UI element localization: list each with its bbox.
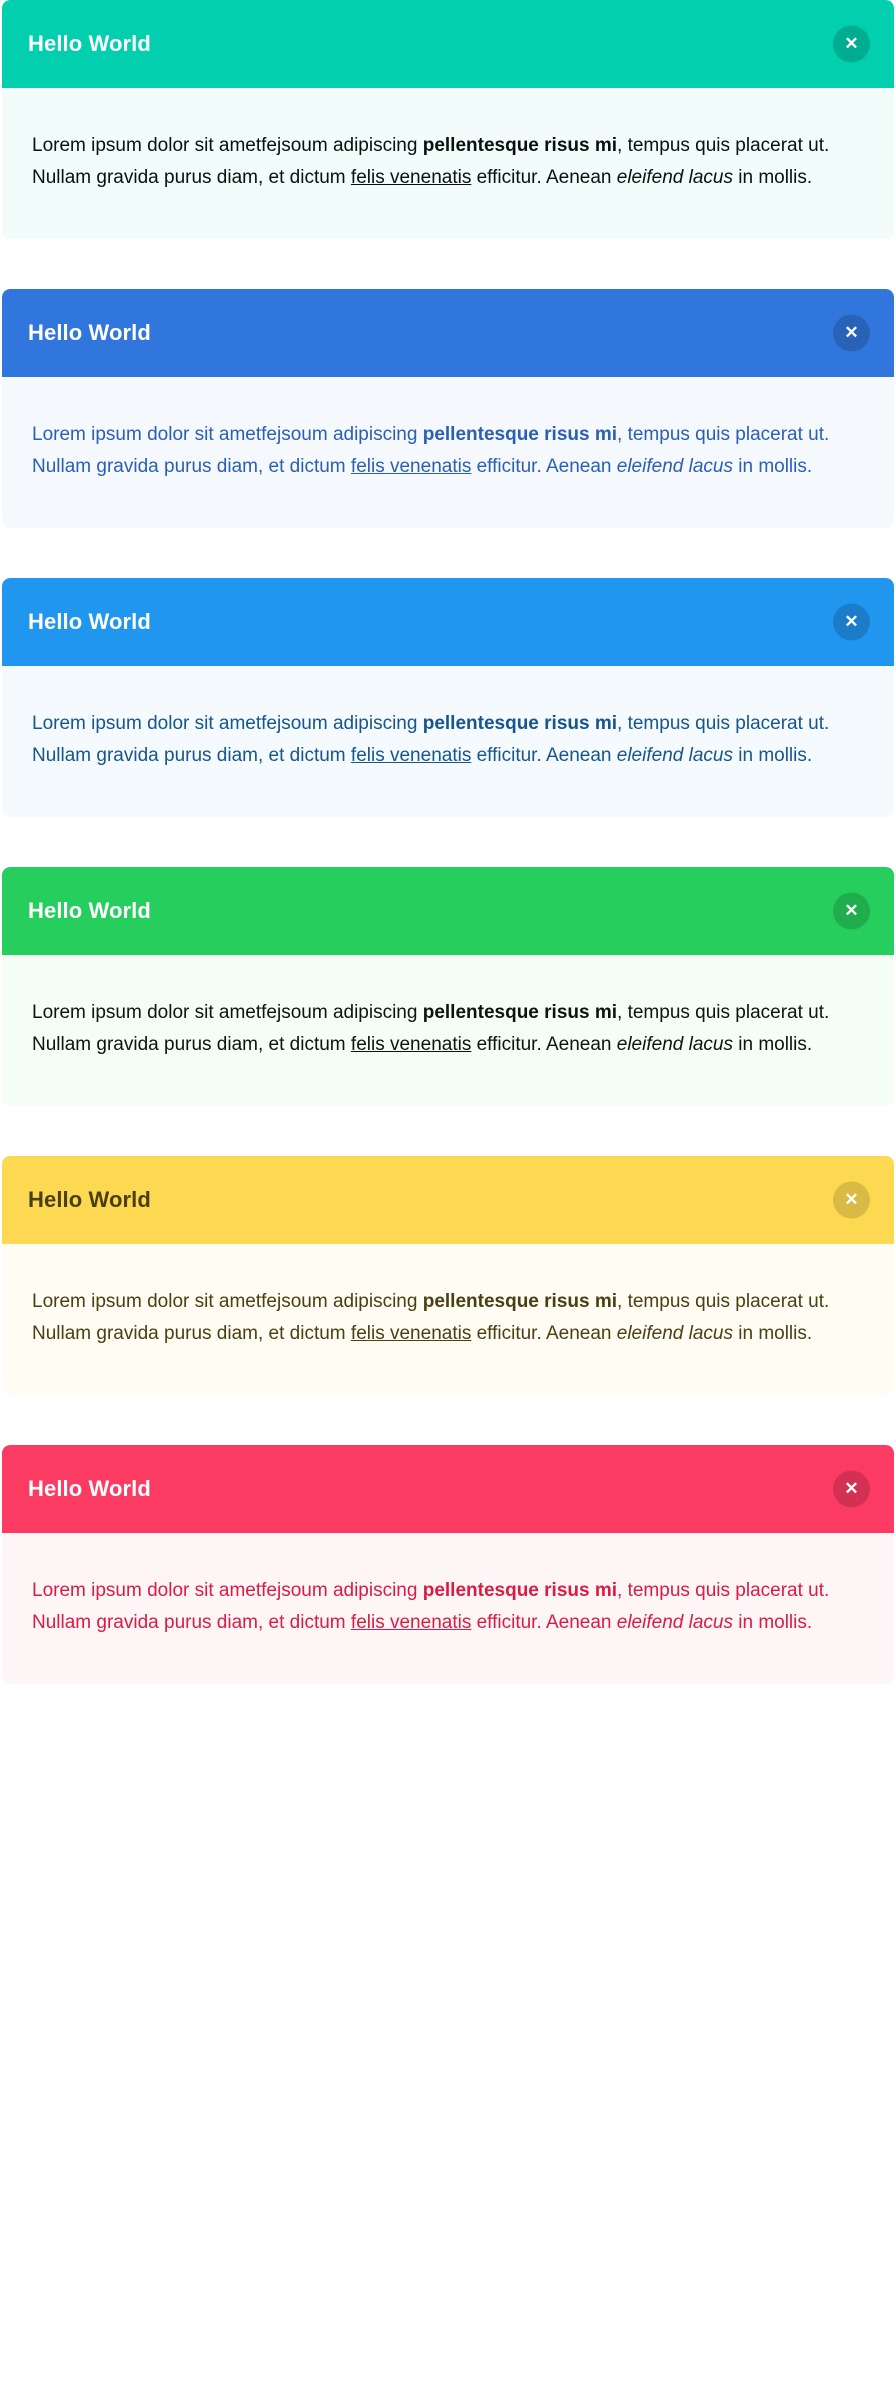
message-text-3: efficitur. Aenean	[471, 745, 616, 766]
message-text-1: Lorem ipsum dolor sit ametfejsoum adipis…	[32, 713, 423, 734]
message-text-1: Lorem ipsum dolor sit ametfejsoum adipis…	[32, 1002, 423, 1023]
alert-red: Hello World✕Lorem ipsum dolor sit ametfe…	[2, 1445, 894, 1684]
message-text-4: in mollis.	[733, 167, 812, 188]
message-link[interactable]: felis venenatis	[351, 167, 471, 188]
close-icon: ✕	[844, 324, 858, 341]
alert-blue: Hello World✕Lorem ipsum dolor sit ametfe…	[2, 289, 894, 528]
alert-message: Lorem ipsum dolor sit ametfejsoum adipis…	[32, 1575, 864, 1638]
message-bold-phrase: pellentesque risus mi	[423, 1291, 617, 1312]
message-text-3: efficitur. Aenean	[471, 456, 616, 477]
message-text-3: efficitur. Aenean	[471, 167, 616, 188]
message-link[interactable]: felis venenatis	[351, 456, 471, 477]
alert-lightblue: Hello World✕Lorem ipsum dolor sit ametfe…	[2, 578, 894, 817]
message-text-1: Lorem ipsum dolor sit ametfejsoum adipis…	[32, 1291, 423, 1312]
message-link[interactable]: felis venenatis	[351, 1612, 471, 1633]
message-italic-phrase: eleifend lacus	[617, 745, 733, 766]
alert-close-button[interactable]: ✕	[833, 1471, 870, 1508]
close-icon: ✕	[844, 902, 858, 919]
message-text-4: in mollis.	[733, 1323, 812, 1344]
close-icon: ✕	[844, 35, 858, 52]
message-text-4: in mollis.	[733, 745, 812, 766]
alert-header: Hello World✕	[2, 1156, 894, 1244]
message-bold-phrase: pellentesque risus mi	[423, 424, 617, 445]
alert-stack: Hello World✕Lorem ipsum dolor sit ametfe…	[0, 0, 896, 1684]
close-icon: ✕	[844, 1191, 858, 1208]
alert-header: Hello World✕	[2, 867, 894, 955]
alert-header: Hello World✕	[2, 1445, 894, 1533]
alert-header: Hello World✕	[2, 578, 894, 666]
message-text-4: in mollis.	[733, 1034, 812, 1055]
message-italic-phrase: eleifend lacus	[617, 1612, 733, 1633]
alert-header: Hello World✕	[2, 0, 894, 88]
message-italic-phrase: eleifend lacus	[617, 1323, 733, 1344]
message-italic-phrase: eleifend lacus	[617, 456, 733, 477]
alert-title: Hello World	[28, 1189, 868, 1211]
message-text-4: in mollis.	[733, 1612, 812, 1633]
message-link[interactable]: felis venenatis	[351, 1323, 471, 1344]
message-italic-phrase: eleifend lacus	[617, 1034, 733, 1055]
alert-body: Lorem ipsum dolor sit ametfejsoum adipis…	[2, 1244, 894, 1395]
message-bold-phrase: pellentesque risus mi	[423, 713, 617, 734]
message-text-3: efficitur. Aenean	[471, 1323, 616, 1344]
alert-teal: Hello World✕Lorem ipsum dolor sit ametfe…	[2, 0, 894, 239]
message-text-1: Lorem ipsum dolor sit ametfejsoum adipis…	[32, 1580, 423, 1601]
alert-message: Lorem ipsum dolor sit ametfejsoum adipis…	[32, 708, 864, 771]
alert-close-button[interactable]: ✕	[833, 26, 870, 63]
alert-close-button[interactable]: ✕	[833, 604, 870, 641]
alert-title: Hello World	[28, 322, 868, 344]
alert-close-button[interactable]: ✕	[833, 893, 870, 930]
alert-title: Hello World	[28, 900, 868, 922]
message-bold-phrase: pellentesque risus mi	[423, 1002, 617, 1023]
alert-green: Hello World✕Lorem ipsum dolor sit ametfe…	[2, 867, 894, 1106]
alert-close-button[interactable]: ✕	[833, 315, 870, 352]
message-link[interactable]: felis venenatis	[351, 745, 471, 766]
alert-body: Lorem ipsum dolor sit ametfejsoum adipis…	[2, 1533, 894, 1684]
alert-title: Hello World	[28, 1478, 868, 1500]
alert-yellow: Hello World✕Lorem ipsum dolor sit ametfe…	[2, 1156, 894, 1395]
alert-body: Lorem ipsum dolor sit ametfejsoum adipis…	[2, 955, 894, 1106]
message-link[interactable]: felis venenatis	[351, 1034, 471, 1055]
message-bold-phrase: pellentesque risus mi	[423, 135, 617, 156]
alert-body: Lorem ipsum dolor sit ametfejsoum adipis…	[2, 88, 894, 239]
alert-title: Hello World	[28, 611, 868, 633]
close-icon: ✕	[844, 613, 858, 630]
message-text-1: Lorem ipsum dolor sit ametfejsoum adipis…	[32, 424, 423, 445]
alert-message: Lorem ipsum dolor sit ametfejsoum adipis…	[32, 130, 864, 193]
alert-title: Hello World	[28, 33, 868, 55]
close-icon: ✕	[844, 1480, 858, 1497]
message-text-1: Lorem ipsum dolor sit ametfejsoum adipis…	[32, 135, 423, 156]
alert-header: Hello World✕	[2, 289, 894, 377]
message-italic-phrase: eleifend lacus	[617, 167, 733, 188]
alert-message: Lorem ipsum dolor sit ametfejsoum adipis…	[32, 419, 864, 482]
alert-body: Lorem ipsum dolor sit ametfejsoum adipis…	[2, 377, 894, 528]
alert-message: Lorem ipsum dolor sit ametfejsoum adipis…	[32, 997, 864, 1060]
message-bold-phrase: pellentesque risus mi	[423, 1580, 617, 1601]
message-text-3: efficitur. Aenean	[471, 1612, 616, 1633]
alert-body: Lorem ipsum dolor sit ametfejsoum adipis…	[2, 666, 894, 817]
message-text-3: efficitur. Aenean	[471, 1034, 616, 1055]
alert-message: Lorem ipsum dolor sit ametfejsoum adipis…	[32, 1286, 864, 1349]
alert-close-button[interactable]: ✕	[833, 1182, 870, 1219]
message-text-4: in mollis.	[733, 456, 812, 477]
